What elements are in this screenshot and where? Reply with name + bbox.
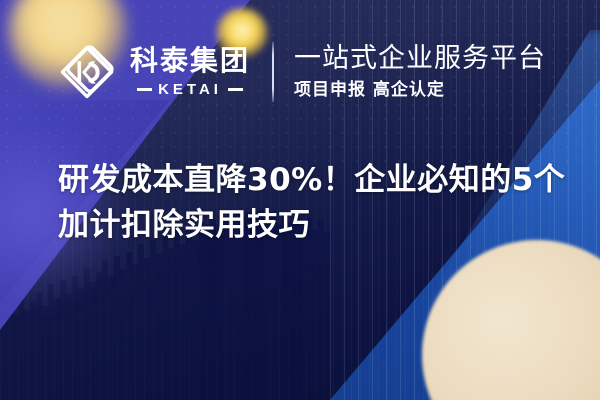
banner-header: 科泰集团 KETAI 一站式企业服务平台 项目申报 高企认定 [58, 42, 546, 102]
brand-name-en: KETAI [158, 81, 222, 98]
vertical-divider [272, 42, 274, 102]
slogan-block: 一站式企业服务平台 项目申报 高企认定 [294, 45, 546, 98]
slogan-main: 一站式企业服务平台 [294, 45, 546, 73]
dash-left-icon [137, 88, 152, 91]
slogan-sub: 项目申报 高企认定 [294, 82, 546, 99]
brand-name-en-row: KETAI [137, 81, 243, 98]
page-title: 研发成本直降30%！企业必知的5个 加计扣除实用技巧 [58, 158, 558, 248]
page-title-line-1: 研发成本直降30%！企业必知的5个 [58, 158, 558, 203]
brand-name-cn: 科泰集团 [130, 47, 250, 75]
brand-wordmark: 科泰集团 KETAI [130, 47, 250, 98]
dash-right-icon [228, 88, 243, 91]
ketai-diamond-monogram-icon [58, 43, 116, 101]
page-title-line-2: 加计扣除实用技巧 [58, 203, 558, 248]
promo-banner: 科泰集团 KETAI 一站式企业服务平台 项目申报 高企认定 研发成本直降30%… [0, 0, 600, 400]
